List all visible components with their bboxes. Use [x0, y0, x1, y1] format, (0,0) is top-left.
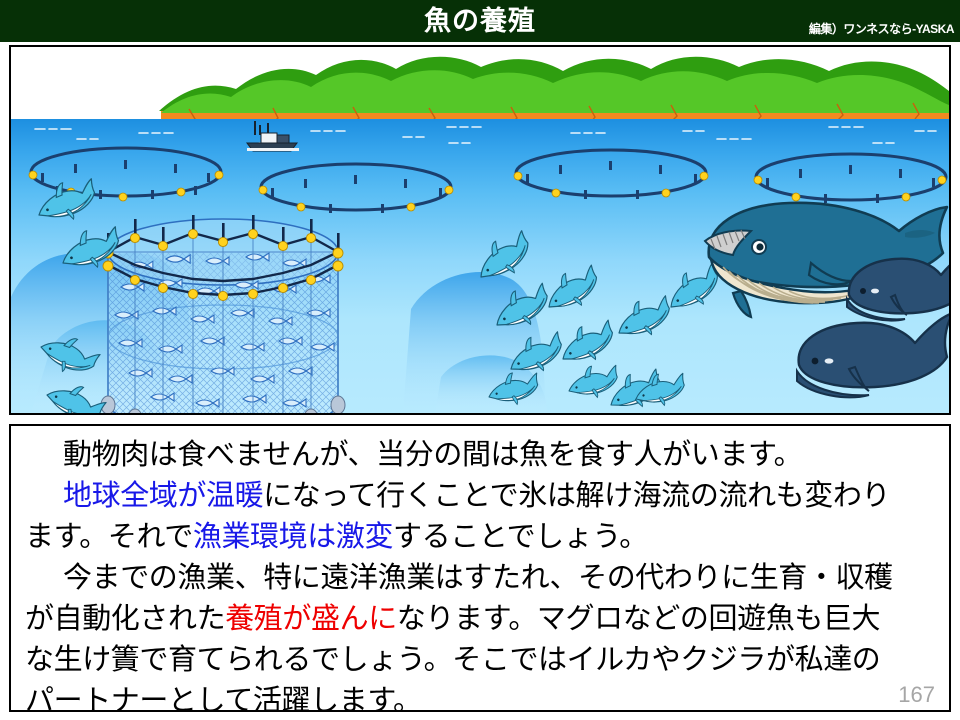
illustration-panel: [9, 45, 951, 415]
page-number: 167: [898, 682, 935, 708]
run-plain: になって行くことで氷は解け海流の流れも変わり: [263, 478, 890, 512]
text-line-7: パートナーとして活躍します。: [11, 680, 949, 712]
text-line-1: 動物肉は食べませんが、当分の間は魚を食す人がいます。: [11, 426, 949, 475]
run-highlight-blue: 漁業環境は激変: [193, 519, 393, 553]
sea-background: [11, 119, 949, 413]
sky-background: [11, 47, 949, 119]
run-plain: することでしょう。: [393, 519, 648, 553]
run-plain: 今までの漁業、特に遠洋漁業はすたれ、その代わりに生育・収穫: [63, 560, 893, 594]
text-line-2: 地球全域が温暖になって行くことで氷は解け海流の流れも変わり: [11, 475, 949, 516]
text-line-5: が自動化された養殖が盛んになります。マグロなどの回遊魚も巨大: [11, 598, 949, 639]
body-text-panel: 動物肉は食べませんが、当分の間は魚を食す人がいます。 地球全域が温暖になって行く…: [9, 424, 951, 712]
slide-header-bar: 魚の養殖 編集）ワンネスなら-YASKA: [0, 0, 960, 42]
run-plain: なります。マグロなどの回遊魚も巨大: [397, 601, 880, 635]
run-highlight-blue: 地球全域が温暖: [63, 478, 263, 512]
illustration-canvas: [11, 47, 949, 413]
run-highlight-red: 養殖が盛んに: [225, 601, 397, 635]
run-plain: パートナーとして活躍します。: [25, 683, 422, 712]
run-plain: が自動化された: [25, 601, 225, 635]
credit-label: 編集）ワンネスなら-YASKA: [809, 20, 954, 37]
text-line-6: な生け簀で育てられるでしょう。そこではイルカやクジラが私達の: [11, 639, 949, 680]
text-line-4: 今までの漁業、特に遠洋漁業はすたれ、その代わりに生育・収穫: [11, 557, 949, 598]
run-plain: 動物肉は食べませんが、当分の間は魚を食す人がいます。: [63, 437, 802, 471]
run-plain: ます。それで: [25, 519, 193, 553]
text-line-3: ます。それで漁業環境は激変することでしょう。: [11, 516, 949, 557]
run-plain: な生け簀で育てられるでしょう。そこではイルカやクジラが私達の: [25, 642, 880, 676]
